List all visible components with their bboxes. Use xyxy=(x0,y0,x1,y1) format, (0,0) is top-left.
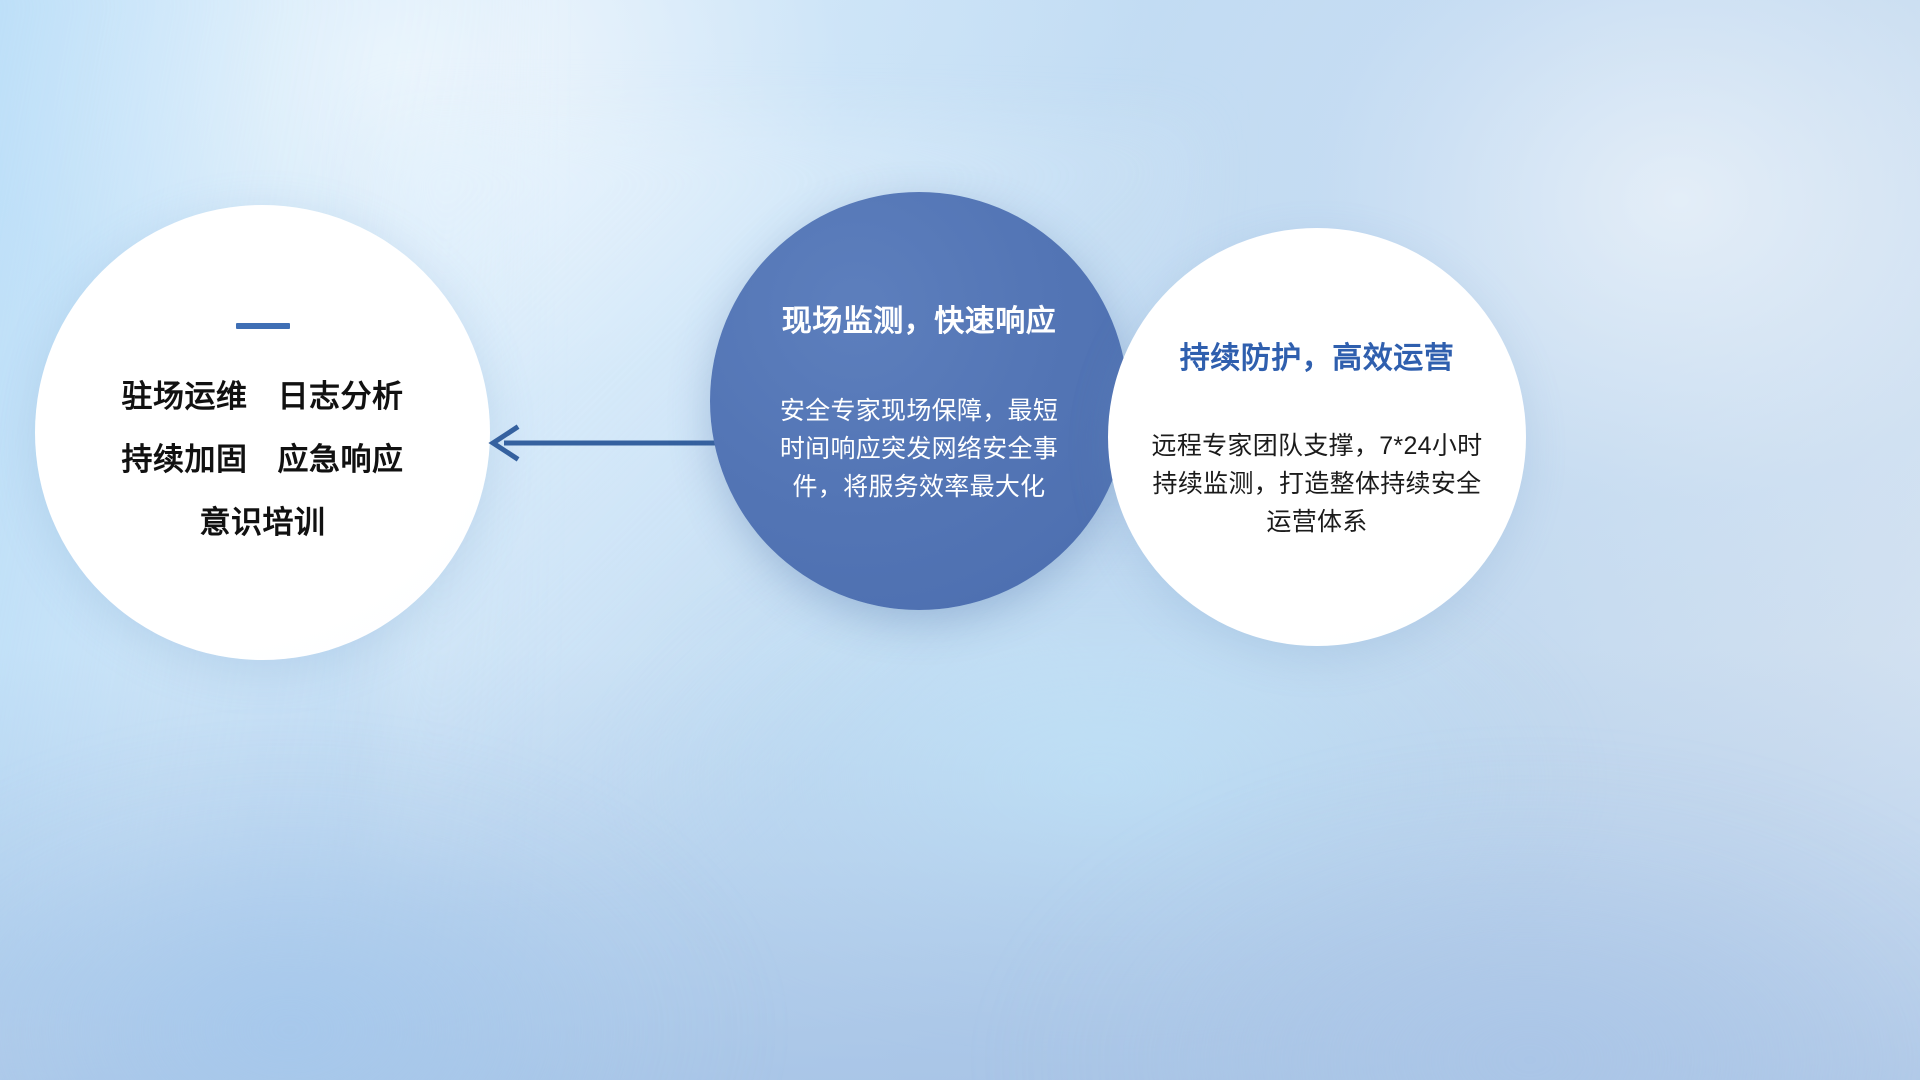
capability-item: 驻场运维 xyxy=(122,371,248,416)
horizontal-dash-icon xyxy=(236,323,290,329)
capability-row: 持续加固 应急响应 xyxy=(122,434,404,479)
continuous-protection-title: 持续防护，高效运营 xyxy=(1180,333,1455,377)
left-arrow-icon xyxy=(482,412,722,474)
capability-row: 意识培训 xyxy=(122,497,404,542)
onsite-monitoring-circle: 现场监测，快速响应 安全专家现场保障，最短时间响应突发网络安全事件，将服务效率最… xyxy=(710,192,1128,610)
capability-item: 意识培训 xyxy=(200,497,326,542)
capability-item: 日志分析 xyxy=(278,371,404,416)
capability-list: 驻场运维 日志分析 持续加固 应急响应 意识培训 xyxy=(122,371,404,542)
capability-item: 应急响应 xyxy=(278,434,404,479)
onsite-monitoring-title: 现场监测，快速响应 xyxy=(782,296,1057,340)
capability-row: 驻场运维 日志分析 xyxy=(122,371,404,416)
capability-item: 持续加固 xyxy=(122,434,248,479)
onsite-monitoring-body: 安全专家现场保障，最短时间响应突发网络安全事件，将服务效率最大化 xyxy=(769,392,1069,506)
continuous-protection-body: 远程专家团队支撑，7*24小时持续监测，打造整体持续安全运营体系 xyxy=(1143,427,1491,541)
capabilities-circle: 驻场运维 日志分析 持续加固 应急响应 意识培训 xyxy=(35,205,490,660)
continuous-protection-circle: 持续防护，高效运营 远程专家团队支撑，7*24小时持续监测，打造整体持续安全运营… xyxy=(1108,228,1526,646)
